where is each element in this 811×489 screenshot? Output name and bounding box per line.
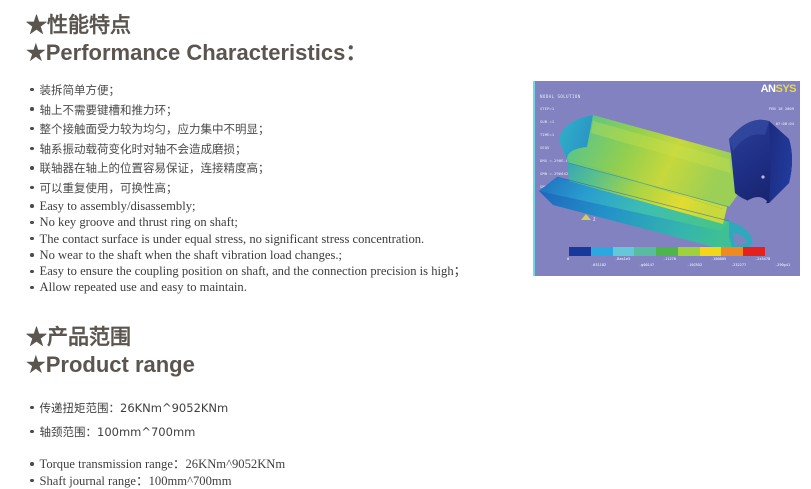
legend-swatch [721,247,743,256]
list-item-text: Allow repeated use and easy to maintain. [40,280,247,294]
legend-label: .031182 [591,263,606,267]
list-item: Torque transmission range：26KNm^9052KNm [30,456,285,473]
product-range-bullets: 传递扭矩范围：26KNm^9052KNm 轴颈范围：100mm^700mm To… [30,396,285,489]
legend-label-row-lower: .031182 .g00147 .16CR52 .232277 .290g41 [545,263,793,269]
legend-label: .11270 [663,257,676,261]
ansys-fea-image: NODAL SOLUTION STEP=1 SUB =1 TIME=1 SEQV… [533,81,800,276]
list-item-text: 整个接触面受力较为均匀，应力集中不明显； [40,122,270,136]
legend-swatch [569,247,591,256]
list-item-text: Easy to ensure the coupling position on … [40,264,467,278]
list-item-text: 轴上不需要键槽和推力环； [40,103,178,117]
list-item-text: Easy to assembly/disassembly; [40,199,196,213]
contour-legend-labels: 0 .8ax1e3 .11270 .180805 .2x5478 .031182… [545,257,793,271]
legend-swatch [743,247,765,256]
performance-heading-en: ★Performance Characteristics： [26,40,367,66]
performance-heading-cn: ★性能特点 [26,14,367,38]
legend-swatch [613,247,635,256]
list-item-text: 轴系振动载荷变化时对轴不会造成磨损； [40,142,247,156]
legend-swatch [678,247,700,256]
legend-swatch [591,247,613,256]
bullet-dot-icon [30,286,34,290]
bullet-dot-icon [30,221,34,225]
contour-legend [569,247,765,256]
end-cap-side-face [769,121,792,203]
legend-label: .180805 [711,257,726,261]
list-item-text: 可以重复使用，可换性高； [40,181,178,195]
legend-label: .8ax1e3 [615,257,630,261]
list-item-text: 装拆简单方便； [40,83,121,97]
legend-label: .290g41 [775,263,790,267]
end-cap-marker [761,175,764,178]
list-item: No wear to the shaft when the shaft vibr… [30,247,466,263]
list-item: 轴上不需要键槽和推力环； [30,101,270,121]
bullet-dot-icon [30,147,34,151]
list-item-text: The contact surface is under equal stres… [40,232,425,246]
bullet-dot-icon [30,127,34,131]
legend-label: .g00147 [639,263,654,267]
list-item: No key groove and thrust ring on shaft; [30,214,466,230]
bullet-dot-icon [30,204,34,208]
section-performance-characteristics: ★性能特点 ★Performance Characteristics： [26,14,367,66]
bullet-dot-icon [30,237,34,241]
bullet-dot-icon [30,462,34,466]
list-item: Easy to ensure the coupling position on … [30,263,466,279]
bullet-dot-icon [30,406,34,410]
list-item: 传递扭矩范围：26KNm^9052KNm [30,396,285,420]
list-item-text: 传递扭矩范围：26KNm^9052KNm [40,401,229,415]
list-item-text: Torque transmission range：26KNm^9052KNm [40,457,286,471]
list-item-text: No key groove and thrust ring on shaft; [40,215,238,229]
list-item: 联轴器在轴上的位置容易保证，连接精度高； [30,159,270,179]
product-range-heading-cn: ★产品范围 [26,326,195,350]
product-range-heading-en: ★Product range [26,352,195,378]
bullet-dot-icon [30,88,34,92]
list-item: 整个接触面受力较为均匀，应力集中不明显； [30,120,270,140]
list-item: Allow repeated use and easy to maintain. [30,279,466,295]
performance-bullets-en: Easy to assembly/disassembly; No key gro… [30,198,466,296]
axis-triad-icon [581,214,591,220]
bullet-dot-icon [30,166,34,170]
list-item-text: 轴颈范围：100mm^700mm [40,425,196,439]
list-item: 可以重复使用，可换性高； [30,179,270,199]
list-item: Easy to assembly/disassembly; [30,198,466,214]
list-item-text: No wear to the shaft when the shaft vibr… [40,248,343,262]
list-item-text: 联轴器在轴上的位置容易保证，连接精度高； [40,161,270,175]
list-item: Shaft journal range：100mm^700mm [30,473,285,489]
performance-bullets-cn: 装拆简单方便； 轴上不需要键槽和推力环； 整个接触面受力较为均匀，应力集中不明显… [30,81,270,199]
legend-label: 0 [567,257,569,261]
list-item: 轴颈范围：100mm^700mm [30,420,285,444]
bullet-dot-icon [30,430,34,434]
product-spec-page: ★性能特点 ★Performance Characteristics： 装拆简单… [0,0,811,477]
legend-swatch [656,247,678,256]
bullet-dot-icon [30,107,34,111]
list-item: 轴系振动载荷变化时对轴不会造成磨损； [30,140,270,160]
list-item-text: Shaft journal range：100mm^700mm [40,474,232,488]
list-item: The contact surface is under equal stres… [30,231,466,247]
legend-swatch [700,247,722,256]
legend-label: .2x5478 [755,257,770,261]
section-product-range: ★产品范围 ★Product range [26,326,195,378]
bullet-dot-icon [30,186,34,190]
bullet-dot-icon [30,270,34,274]
bullet-dot-icon [30,253,34,257]
legend-label: .16CR52 [687,263,702,267]
list-item: 装拆简单方便； [30,81,270,101]
bullet-dot-icon [30,479,34,483]
axis-label: Z [593,217,595,222]
legend-swatch [634,247,656,256]
legend-label: .232277 [731,263,746,267]
